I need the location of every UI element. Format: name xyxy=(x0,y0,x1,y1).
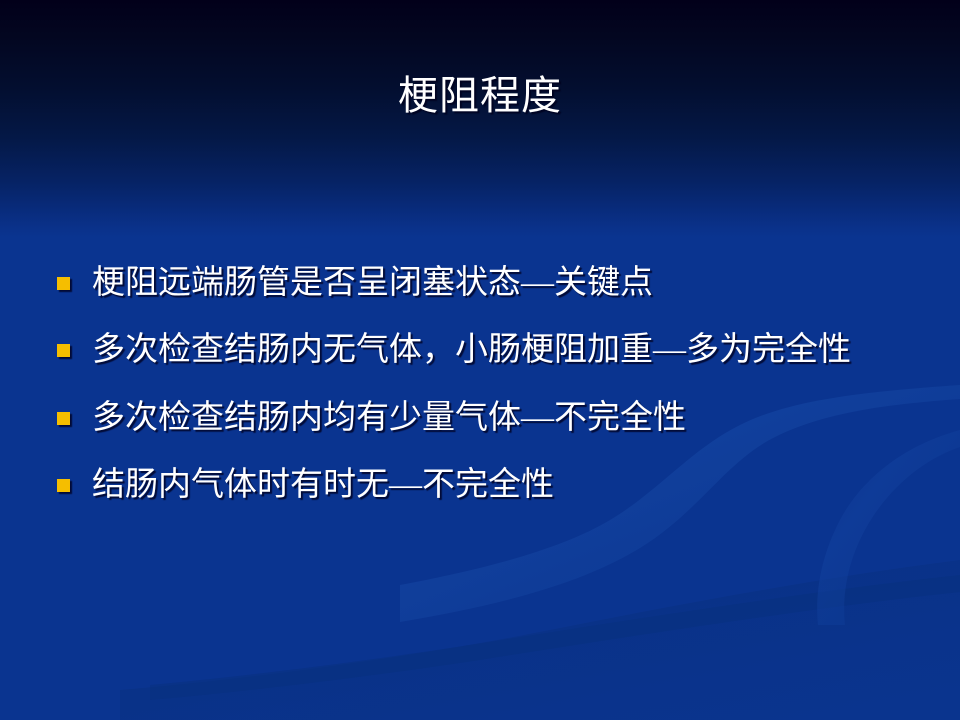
presentation-slide: 梗阻程度 梗阻远端肠管是否呈闭塞状态—关键点 多次检查结肠内无气体，小肠梗阻加重… xyxy=(0,0,960,720)
slide-title: 梗阻程度 xyxy=(0,72,960,120)
list-item-text: 梗阻远端肠管是否呈闭塞状态—关键点 xyxy=(92,262,926,304)
list-item-text: 多次检查结肠内均有少量气体—不完全性 xyxy=(92,397,926,439)
square-bullet-icon xyxy=(57,412,70,425)
square-bullet-icon xyxy=(57,479,70,492)
list-item: 多次检查结肠内无气体，小肠梗阻加重—多为完全性 xyxy=(50,329,926,371)
square-bullet-icon xyxy=(57,344,70,357)
list-item: 梗阻远端肠管是否呈闭塞状态—关键点 xyxy=(50,262,926,304)
list-item-text: 多次检查结肠内无气体，小肠梗阻加重—多为完全性 xyxy=(92,329,926,371)
list-item-text: 结肠内气体时有时无—不完全性 xyxy=(92,464,926,506)
decor-diagonal-band xyxy=(150,575,960,700)
square-bullet-icon xyxy=(57,277,70,290)
decor-swoosh-lower xyxy=(120,560,960,720)
list-item: 结肠内气体时有时无—不完全性 xyxy=(50,464,926,506)
list-item: 多次检查结肠内均有少量气体—不完全性 xyxy=(50,397,926,439)
slide-body-bullet-list: 梗阻远端肠管是否呈闭塞状态—关键点 多次检查结肠内无气体，小肠梗阻加重—多为完全… xyxy=(50,262,926,506)
